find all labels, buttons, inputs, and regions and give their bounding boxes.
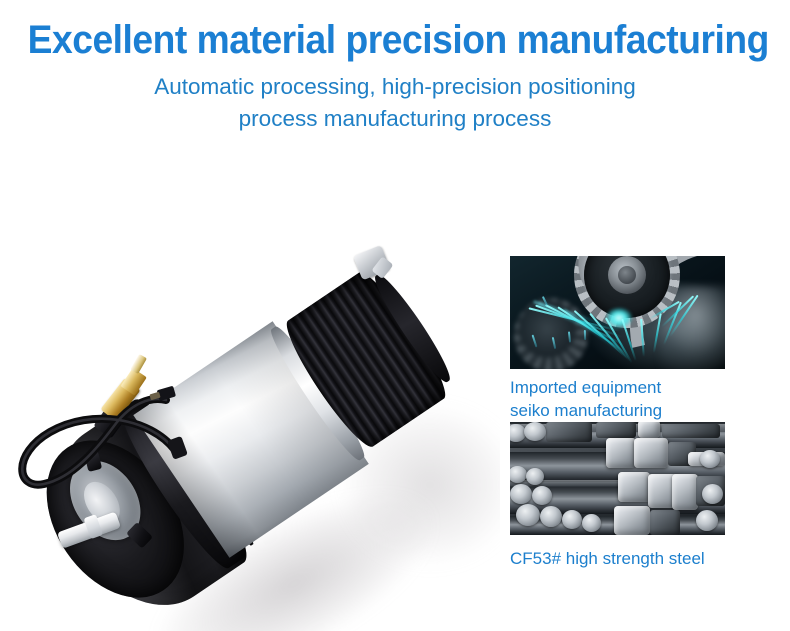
subtitle-line-1: Automatic processing, high-precision pos… <box>0 71 790 103</box>
product-photo <box>0 150 500 631</box>
subtitle-line-2: process manufacturing process <box>0 103 790 135</box>
panel-imported-equipment: Imported equipment seiko manufacturing <box>510 256 725 422</box>
panel-caption-equipment-line-1: Imported equipment <box>510 369 725 399</box>
gear-bore <box>618 266 636 284</box>
page-title: Excellent material precision manufacturi… <box>28 0 763 62</box>
steel-material-photo <box>510 422 725 535</box>
subtitle-block: Automatic processing, high-precision pos… <box>0 62 790 135</box>
panel-caption-steel: CF53# high strength steel <box>510 535 725 570</box>
panel-caption-equipment-line-2: seiko manufacturing <box>510 399 725 422</box>
imported-equipment-photo <box>510 256 725 369</box>
header: Excellent material precision manufacturi… <box>0 0 790 135</box>
brass-valve-tip <box>130 354 147 374</box>
panel-steel-material: CF53# high strength steel <box>510 422 725 570</box>
